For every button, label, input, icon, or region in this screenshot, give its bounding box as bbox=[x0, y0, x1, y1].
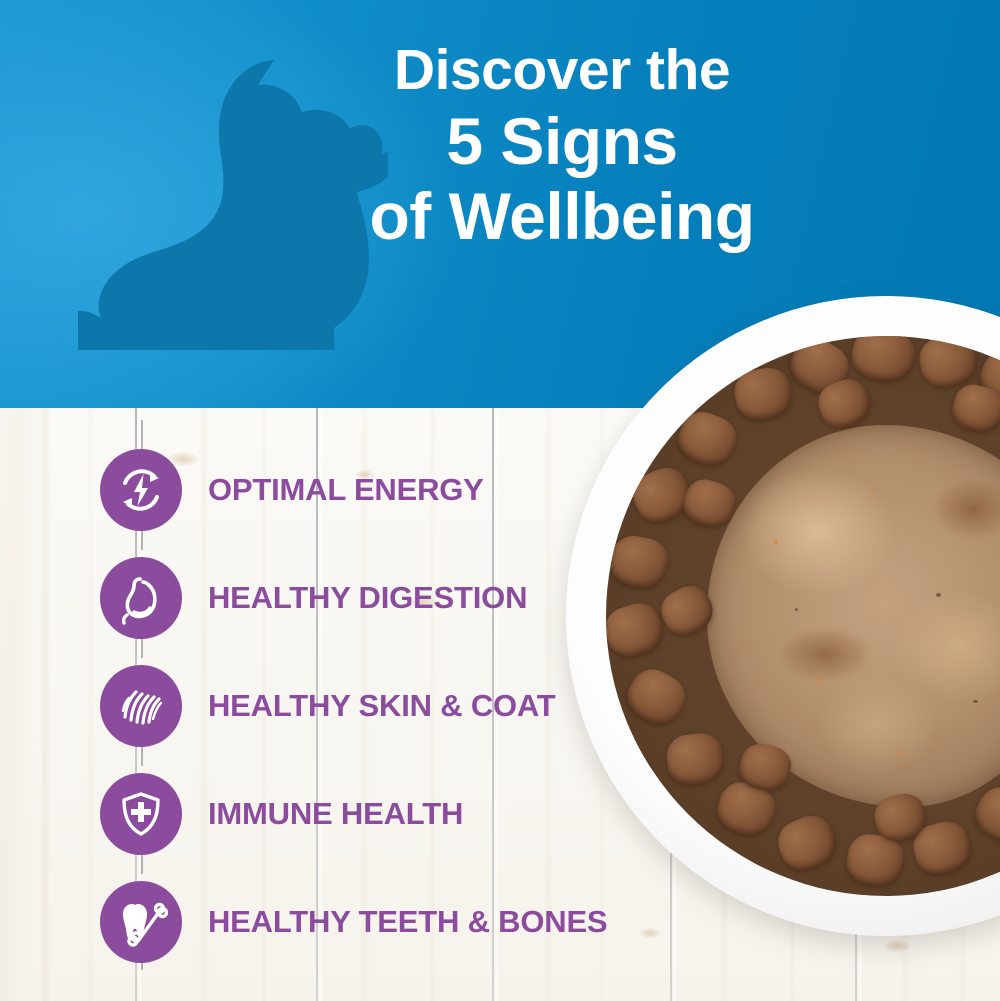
kibble-piece bbox=[772, 809, 844, 878]
bowl-interior bbox=[606, 336, 1000, 897]
shield-cross-icon bbox=[100, 773, 182, 855]
kibble-piece bbox=[620, 662, 693, 733]
kibble-piece bbox=[949, 381, 1000, 437]
kibble-piece bbox=[849, 336, 917, 385]
kibble-piece bbox=[664, 730, 727, 788]
fur-strands-icon bbox=[100, 665, 182, 747]
feature-healthy-digestion[interactable]: HEALTHY DIGESTION bbox=[100, 556, 527, 640]
feature-healthy-skin-coat[interactable]: HEALTHY SKIN & COAT bbox=[100, 664, 556, 748]
kibble-piece bbox=[607, 533, 671, 592]
hero-title: Discover the 5 Signs of Wellbeing bbox=[242, 42, 882, 249]
feature-immune-health[interactable]: IMMUNE HEALTH bbox=[100, 772, 463, 856]
feature-healthy-teeth-bones[interactable]: HEALTHY TEETH & BONES bbox=[100, 880, 607, 964]
hero-title-line-1: Discover the bbox=[242, 42, 882, 99]
feature-optimal-energy[interactable]: OPTIMAL ENERGY bbox=[100, 448, 484, 532]
feature-label: IMMUNE HEALTH bbox=[208, 796, 463, 832]
kibble-piece bbox=[672, 406, 742, 473]
kibble-piece bbox=[730, 364, 795, 425]
hero-title-line-2: 5 Signs bbox=[242, 108, 882, 174]
stomach-icon bbox=[100, 557, 182, 639]
feature-label: OPTIMAL ENERGY bbox=[208, 472, 484, 508]
feature-label: HEALTHY DIGESTION bbox=[208, 580, 527, 616]
feature-label: HEALTHY SKIN & COAT bbox=[208, 688, 556, 724]
tooth-bone-icon bbox=[100, 881, 182, 963]
feature-label: HEALTHY TEETH & BONES bbox=[208, 904, 607, 940]
energy-recycle-bolt-icon bbox=[100, 449, 182, 531]
marketing-infographic: Discover the 5 Signs of Wellbeing bbox=[0, 0, 1000, 1001]
hero-title-line-3: of Wellbeing bbox=[242, 183, 882, 249]
kibble-piece bbox=[606, 597, 668, 662]
